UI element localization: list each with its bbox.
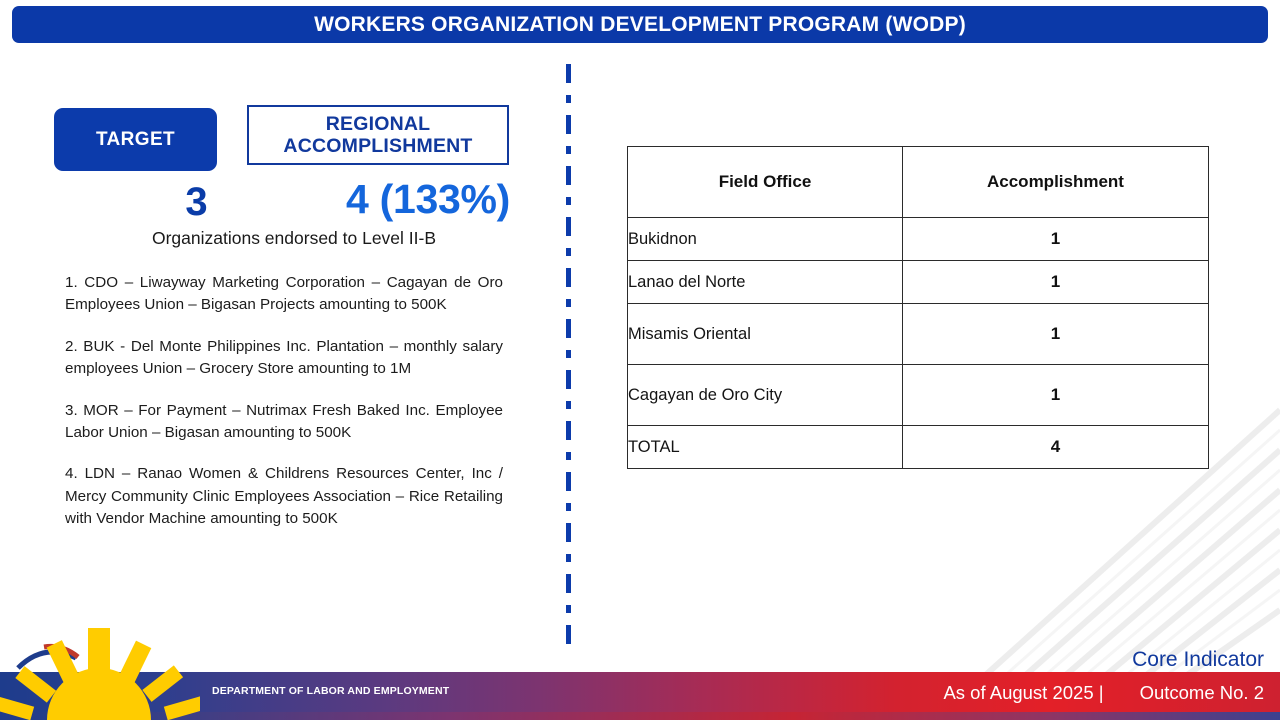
cell-field-office: Misamis Oriental: [628, 304, 903, 365]
table-row: Bukidnon 1: [628, 218, 1209, 261]
cell-field-office: Cagayan de Oro City: [628, 365, 903, 426]
list-item: 2. BUK - Del Monte Philippines Inc. Plan…: [65, 336, 503, 381]
core-indicator-label: Core Indicator: [1132, 648, 1264, 672]
outcome-number: Outcome No. 2: [1140, 682, 1264, 704]
footer-right-group: As of August 2025 | Outcome No. 2: [943, 682, 1264, 704]
kpi-row: TARGET REGIONAL ACCOMPLISHMENT: [54, 52, 560, 137]
table-row-total: TOTAL 4: [628, 426, 1209, 469]
column-header-accomplishment: Accomplishment: [903, 147, 1209, 218]
table-row: Cagayan de Oro City 1: [628, 365, 1209, 426]
table-header-row: Field Office Accomplishment: [628, 147, 1209, 218]
page-title: WORKERS ORGANIZATION DEVELOPMENT PROGRAM…: [314, 13, 966, 37]
cell-field-office: Lanao del Norte: [628, 261, 903, 304]
regional-accomplishment-box: REGIONAL ACCOMPLISHMENT: [247, 105, 509, 165]
footer-bottom-strip: [0, 712, 1280, 720]
target-badge: TARGET: [54, 108, 217, 171]
list-item: 3. MOR – For Payment – Nutrimax Fresh Ba…: [65, 400, 503, 445]
regional-accomplishment-label-line2: ACCOMPLISHMENT: [283, 135, 472, 157]
left-content-column: TARGET REGIONAL ACCOMPLISHMENT 3 4 (133%…: [0, 52, 560, 137]
cell-accomplishment: 1: [903, 218, 1209, 261]
slide-title-bar: WORKERS ORGANIZATION DEVELOPMENT PROGRAM…: [12, 6, 1268, 43]
vertical-dashed-divider: [566, 64, 571, 656]
kpi-caption: Organizations endorsed to Level II-B: [54, 228, 534, 249]
regional-accomplishment-label-line1: REGIONAL: [326, 113, 431, 135]
cell-accomplishment: 1: [903, 261, 1209, 304]
cell-field-office: Bukidnon: [628, 218, 903, 261]
target-badge-label: TARGET: [96, 129, 175, 151]
cell-accomplishment: 1: [903, 365, 1209, 426]
target-value: 3: [124, 180, 269, 225]
cell-accomplishment: 1: [903, 304, 1209, 365]
endorsed-organizations-list: 1. CDO – Liwayway Marketing Corporation …: [65, 272, 503, 531]
table-row: Misamis Oriental 1: [628, 304, 1209, 365]
as-of-date: As of August 2025 |: [943, 682, 1103, 704]
accomplishment-value: 4 (133%): [259, 176, 597, 223]
footer: DEPARTMENT OF LABOR AND EMPLOYMENT As of…: [0, 672, 1280, 720]
kpi-values: 3 4 (133%): [54, 180, 554, 228]
agency-name: DEPARTMENT OF LABOR AND EMPLOYMENT: [212, 685, 449, 697]
cell-accomplishment-total: 4: [903, 426, 1209, 469]
list-item: 4. LDN – Ranao Women & Childrens Resourc…: [65, 463, 503, 530]
cell-field-office-total: TOTAL: [628, 426, 903, 469]
list-item: 1. CDO – Liwayway Marketing Corporation …: [65, 272, 503, 317]
accomplishment-table: Field Office Accomplishment Bukidnon 1 L…: [627, 146, 1209, 469]
table-row: Lanao del Norte 1: [628, 261, 1209, 304]
column-header-field-office: Field Office: [628, 147, 903, 218]
